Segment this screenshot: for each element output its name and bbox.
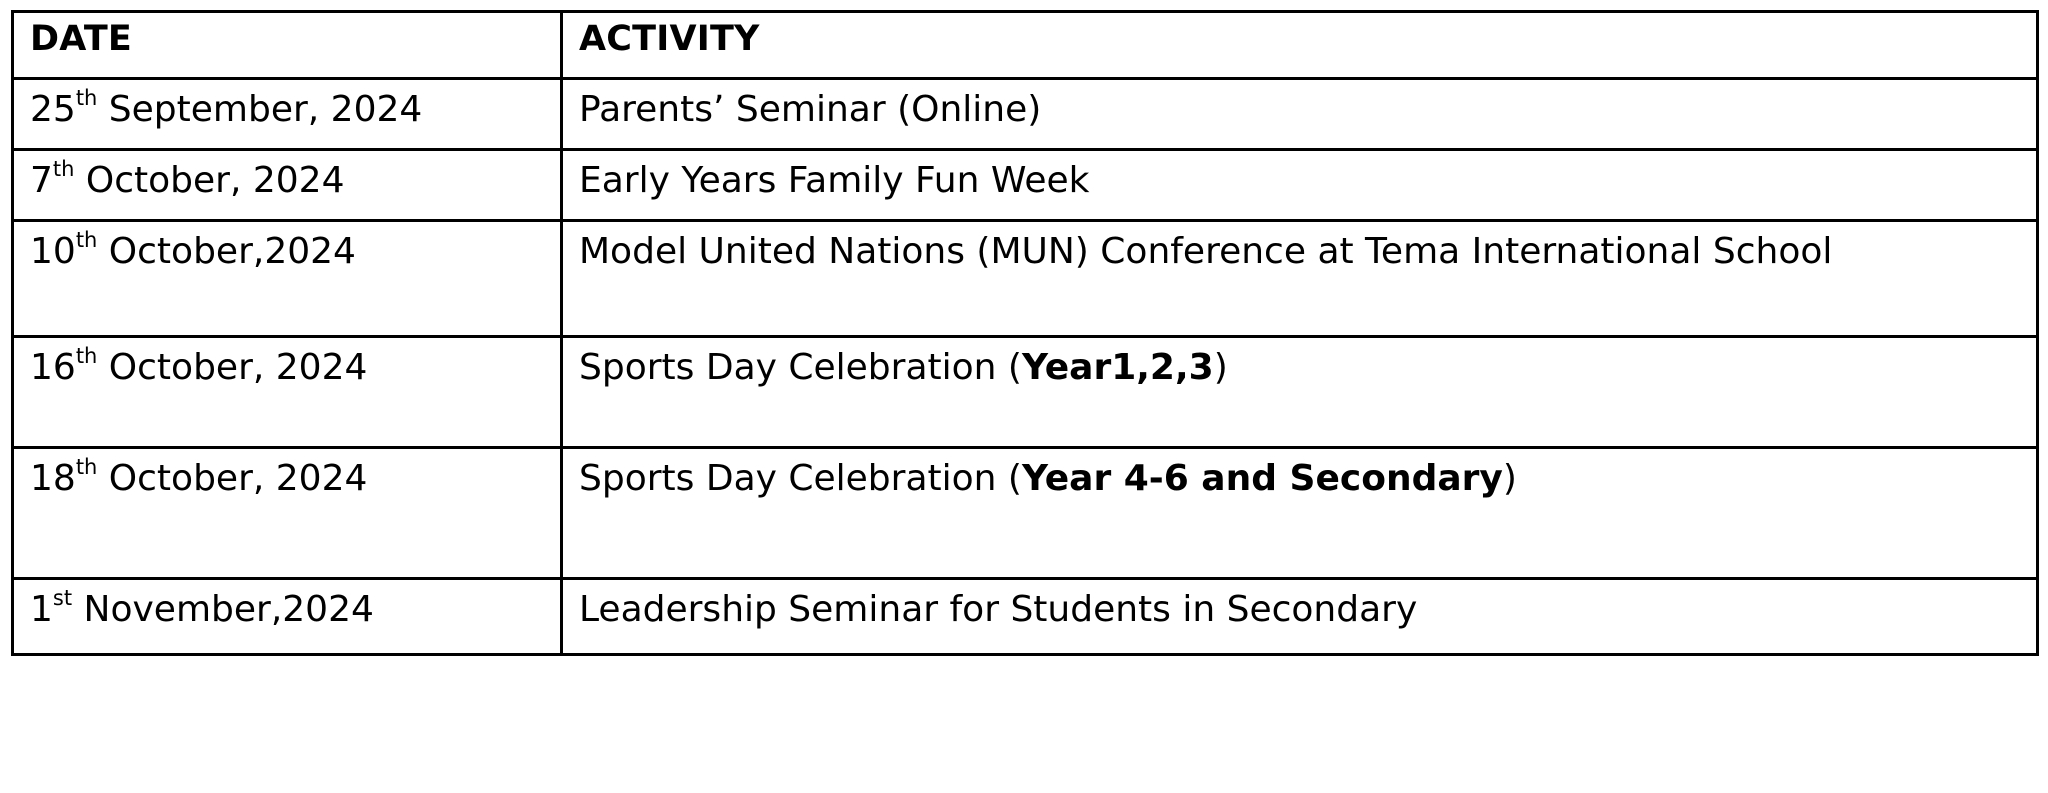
- date-day: 7: [30, 160, 53, 201]
- activity-cell: Leadership Seminar for Students in Secon…: [562, 579, 2038, 655]
- activity-cell: Early Years Family Fun Week: [562, 150, 2038, 221]
- activity-pre: Sports Day Celebration (: [579, 458, 1022, 499]
- table-row: 10th October,2024 Model United Nations (…: [13, 221, 2038, 337]
- activity-post: ): [1214, 347, 1228, 388]
- activity-bold: Year1,2,3: [1022, 347, 1214, 388]
- date-rest: October, 2024: [74, 160, 344, 201]
- activity-cell: Sports Day Celebration (Year 4-6 and Sec…: [562, 448, 2038, 579]
- date-rest: October, 2024: [97, 347, 367, 388]
- table-body: 25th September, 2024 Parents’ Seminar (O…: [13, 79, 2038, 655]
- date-cell: 1st November,2024: [13, 579, 562, 655]
- table-row: 7th October, 2024 Early Years Family Fun…: [13, 150, 2038, 221]
- table-row: 25th September, 2024 Parents’ Seminar (O…: [13, 79, 2038, 150]
- date-day: 16: [30, 347, 76, 388]
- date-ordinal-suffix: th: [76, 455, 98, 479]
- date-cell: 7th October, 2024: [13, 150, 562, 221]
- activity-cell: Model United Nations (MUN) Conference at…: [562, 221, 2038, 337]
- date-cell: 25th September, 2024: [13, 79, 562, 150]
- date-day: 1: [30, 589, 53, 630]
- date-cell: 16th October, 2024: [13, 337, 562, 448]
- column-header-activity: ACTIVITY: [562, 12, 2038, 79]
- date-ordinal-suffix: st: [53, 586, 72, 610]
- document-page: DATE ACTIVITY 25th September, 2024 Paren…: [0, 0, 2048, 793]
- table-header: DATE ACTIVITY: [13, 12, 2038, 79]
- column-header-date-label: DATE: [30, 19, 560, 59]
- activity-text: Model United Nations (MUN) Conference at…: [579, 228, 2036, 275]
- activity-post: ): [1503, 458, 1517, 499]
- date-day: 18: [30, 458, 76, 499]
- date-day: 10: [30, 231, 76, 272]
- table-row: 16th October, 2024 Sports Day Celebratio…: [13, 337, 2038, 448]
- date-cell: 10th October,2024: [13, 221, 562, 337]
- date-text: 7th October, 2024: [30, 157, 560, 204]
- date-day: 25: [30, 89, 76, 130]
- date-ordinal-suffix: th: [76, 344, 98, 368]
- date-cell: 18th October, 2024: [13, 448, 562, 579]
- activity-schedule-table: DATE ACTIVITY 25th September, 2024 Paren…: [11, 10, 2039, 656]
- activity-pre: Sports Day Celebration (: [579, 347, 1022, 388]
- date-text: 18th October, 2024: [30, 455, 560, 502]
- activity-text: Sports Day Celebration (Year1,2,3): [579, 344, 2036, 391]
- date-ordinal-suffix: th: [53, 157, 75, 181]
- activity-text: Early Years Family Fun Week: [579, 157, 2036, 204]
- date-rest: November,2024: [72, 589, 374, 630]
- column-header-activity-label: ACTIVITY: [579, 19, 2036, 59]
- date-rest: October,2024: [97, 231, 356, 272]
- date-rest: September, 2024: [97, 89, 422, 130]
- header-row: DATE ACTIVITY: [13, 12, 2038, 79]
- date-ordinal-suffix: th: [76, 86, 98, 110]
- activity-cell: Parents’ Seminar (Online): [562, 79, 2038, 150]
- table-row: 1st November,2024 Leadership Seminar for…: [13, 579, 2038, 655]
- activity-text: Sports Day Celebration (Year 4-6 and Sec…: [579, 455, 2036, 502]
- column-header-date: DATE: [13, 12, 562, 79]
- activity-cell: Sports Day Celebration (Year1,2,3): [562, 337, 2038, 448]
- activity-bold: Year 4-6 and Secondary: [1022, 458, 1503, 499]
- date-rest: October, 2024: [97, 458, 367, 499]
- date-text: 16th October, 2024: [30, 344, 560, 391]
- activity-pre: Leadership Seminar for Students in Secon…: [579, 589, 1417, 630]
- date-ordinal-suffix: th: [76, 228, 98, 252]
- activity-pre: Parents’ Seminar (Online): [579, 89, 1041, 130]
- activity-pre: Model United Nations (MUN) Conference at…: [579, 231, 1832, 272]
- date-text: 25th September, 2024: [30, 86, 560, 133]
- table-row: 18th October, 2024 Sports Day Celebratio…: [13, 448, 2038, 579]
- date-text: 1st November,2024: [30, 586, 560, 633]
- activity-text: Parents’ Seminar (Online): [579, 86, 2036, 133]
- activity-text: Leadership Seminar for Students in Secon…: [579, 586, 2036, 633]
- date-text: 10th October,2024: [30, 228, 560, 275]
- activity-pre: Early Years Family Fun Week: [579, 160, 1090, 201]
